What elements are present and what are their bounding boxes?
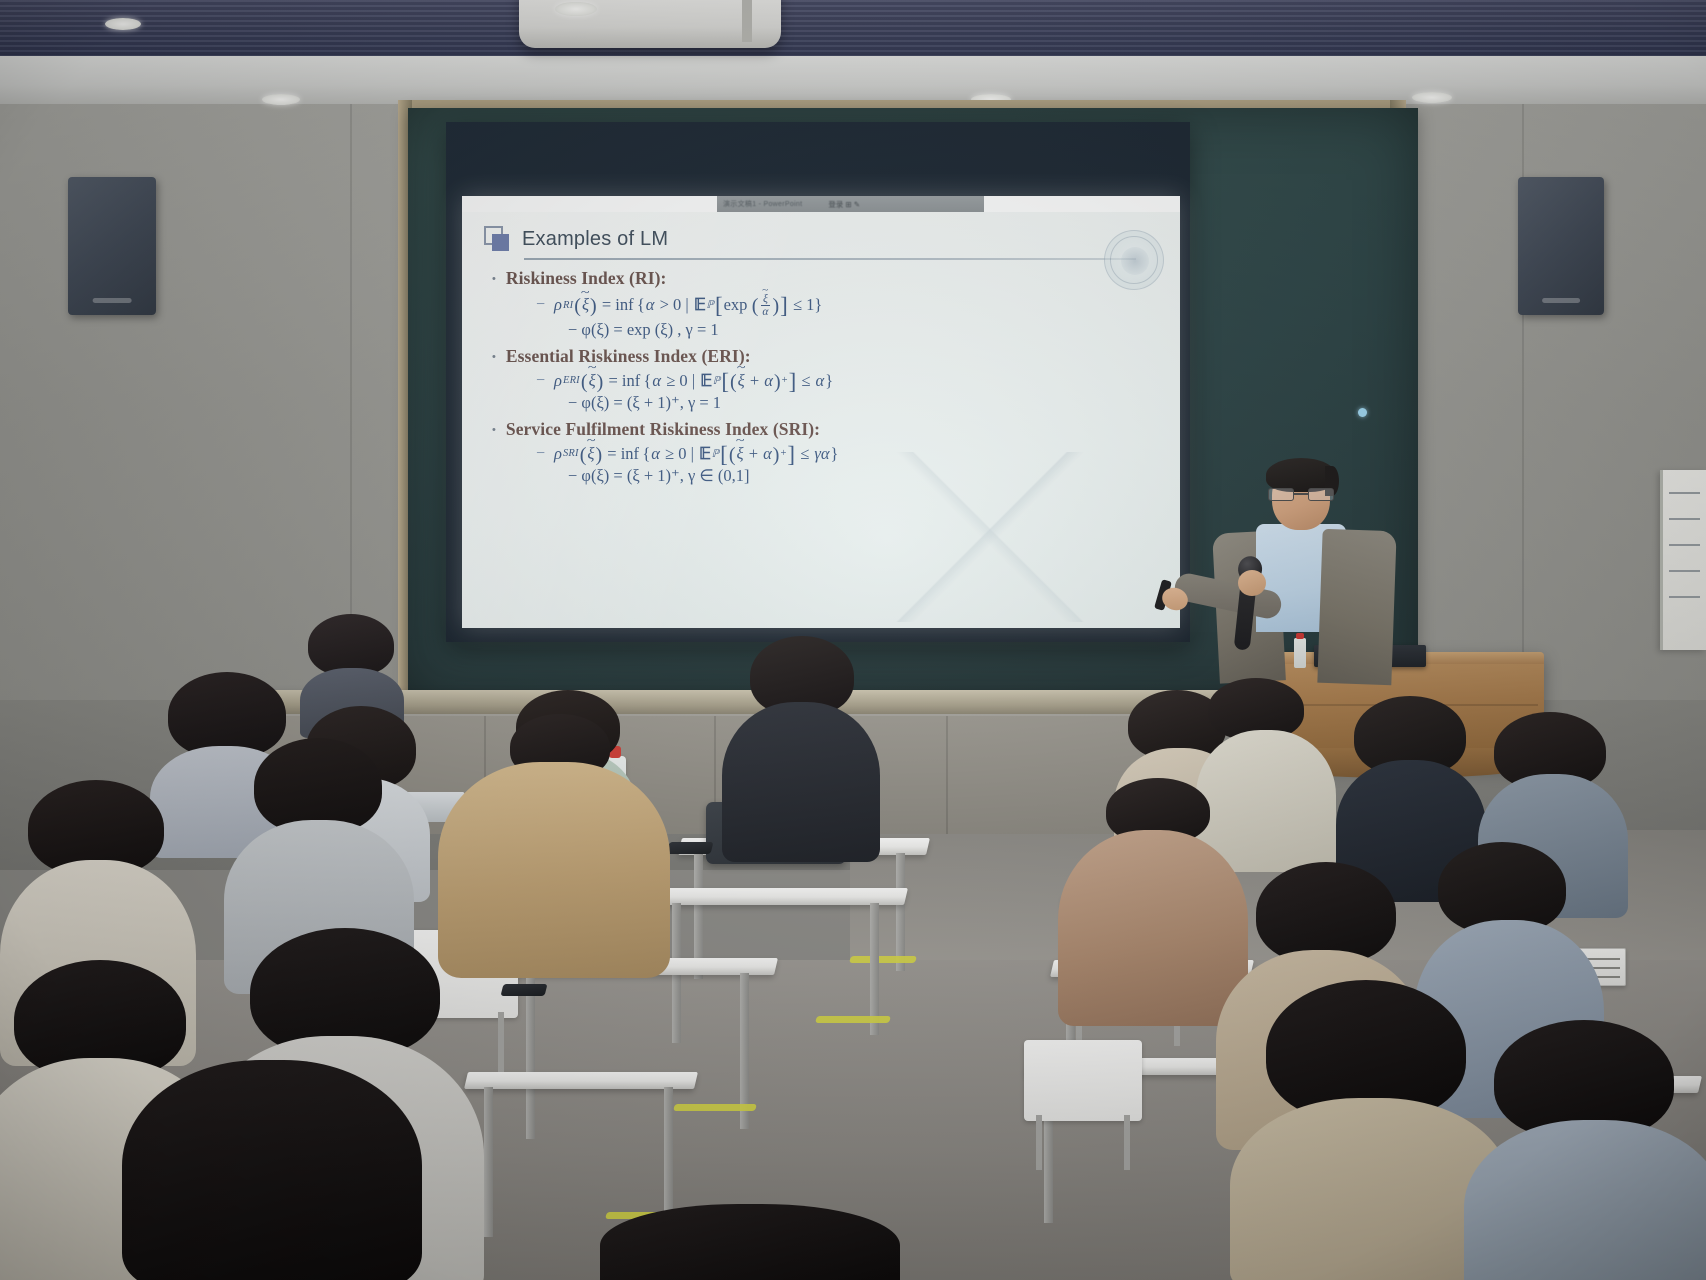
- ceiling-dark-band: [0, 0, 1706, 62]
- sub-marker: −: [536, 296, 545, 314]
- chair: [1024, 1040, 1142, 1170]
- blackboard-marker-dot: [1358, 408, 1367, 417]
- ceiling-light: [555, 2, 597, 16]
- presenter-jacket-right: [1317, 529, 1396, 685]
- wall-speaker-right: [1518, 177, 1604, 315]
- equation-sub-ri: − φ(ξ) = exp (ξ) , γ = 1: [568, 320, 1160, 340]
- sub-marker: −: [536, 445, 545, 463]
- bullet-list: • Riskiness Index (RI): − ρRI(ξ) = inf {…: [484, 268, 1160, 486]
- presenter-hand-right: [1238, 570, 1266, 596]
- audience-member: [722, 636, 880, 856]
- equation-expression: − φ(ξ) = (ξ + 1)⁺, γ ∈ (0,1]: [568, 466, 750, 486]
- wall-poster-right: [1660, 470, 1706, 650]
- equation-expression: ρRI(ξ) = inf {α > 0 | 𝔼ℙ [exp (ξα)] ≤ 1}: [554, 293, 822, 318]
- ceiling-light: [1412, 92, 1452, 103]
- ceiling-light: [262, 94, 300, 105]
- powerpoint-toolbar[interactable]: 演示文稿1 - PowerPoint 登录 ⊞ ✎: [462, 196, 1180, 212]
- presenter-hair: [1266, 458, 1336, 492]
- list-item: • Riskiness Index (RI): − ρRI(ξ) = inf {…: [484, 268, 1160, 340]
- university-seal-logo: [1104, 230, 1164, 290]
- two-squares-icon: [484, 226, 510, 252]
- equation-main-ri: − ρRI(ξ) = inf {α > 0 | 𝔼ℙ [exp (ξα)] ≤ …: [536, 293, 1160, 318]
- equation-main-eri: − ρERI(ξ) = inf {α ≥ 0 | 𝔼ℙ [(ξ + α)+] ≤…: [536, 371, 1160, 391]
- sub-marker: −: [536, 372, 545, 390]
- smartphone: [667, 842, 714, 854]
- equation-expression: − φ(ξ) = exp (ξ) , γ = 1: [568, 320, 719, 340]
- toolbar-icons[interactable]: 登录 ⊞ ✎: [828, 199, 860, 210]
- bullet-marker: •: [492, 425, 496, 436]
- bullet-marker: •: [492, 352, 496, 363]
- slide-title: Examples of LM: [522, 228, 668, 251]
- bullet-heading: Service Fulfilment Riskiness Index (SRI)…: [506, 419, 820, 440]
- wall-speaker-left: [68, 177, 156, 315]
- presenter: [1160, 458, 1420, 708]
- bullet-heading: Essential Riskiness Index (ERI):: [506, 346, 751, 367]
- toolbar-right-pane: [984, 196, 1180, 212]
- speaker-vent: [93, 298, 132, 303]
- slide-header: Examples of LM: [484, 226, 1160, 252]
- list-item: • Service Fulfilment Riskiness Index (SR…: [484, 419, 1160, 486]
- audience-member: [1464, 1020, 1706, 1280]
- smartphone: [501, 984, 548, 996]
- projection-screen: 演示文稿1 - PowerPoint 登录 ⊞ ✎ Examples of LM…: [462, 196, 1180, 628]
- ceiling-light: [105, 18, 141, 30]
- title-underline: [524, 258, 1136, 260]
- equation-sub-eri: − φ(ξ) = (ξ + 1)⁺, γ = 1: [568, 393, 1160, 413]
- equation-sub-sri: − φ(ξ) = (ξ + 1)⁺, γ ∈ (0,1]: [568, 466, 1160, 486]
- equation-expression: ρSRI(ξ) = inf {α ≥ 0 | 𝔼ℙ [(ξ + α)+] ≤ γ…: [554, 444, 838, 464]
- toolbar-center-label: 演示文稿1 - PowerPoint: [717, 199, 802, 209]
- equation-main-sri: − ρSRI(ξ) = inf {α ≥ 0 | 𝔼ℙ [(ξ + α)+] ≤…: [536, 444, 1160, 464]
- slide-content: Examples of LM • Riskiness Index (RI): −…: [462, 212, 1180, 628]
- projector-mount: [742, 0, 752, 42]
- toolbar-left-pane: [462, 196, 717, 212]
- lecture-hall-photo: 演示文稿1 - PowerPoint 登录 ⊞ ✎ Examples of LM…: [0, 0, 1706, 1280]
- audience-member: [122, 1060, 422, 1280]
- bullet-marker: •: [492, 274, 496, 285]
- eyeglasses: [1268, 488, 1334, 501]
- speaker-vent: [1542, 298, 1580, 303]
- list-item: • Essential Riskiness Index (ERI): − ρER…: [484, 346, 1160, 413]
- bullet-heading-row: • Riskiness Index (RI):: [492, 268, 1160, 289]
- cabinet-seam: [946, 716, 948, 834]
- equation-expression: ρERI(ξ) = inf {α ≥ 0 | 𝔼ℙ [(ξ + α)+] ≤ α…: [554, 371, 833, 391]
- equation-expression: − φ(ξ) = (ξ + 1)⁺, γ = 1: [568, 393, 721, 413]
- audience-member: [600, 1204, 900, 1280]
